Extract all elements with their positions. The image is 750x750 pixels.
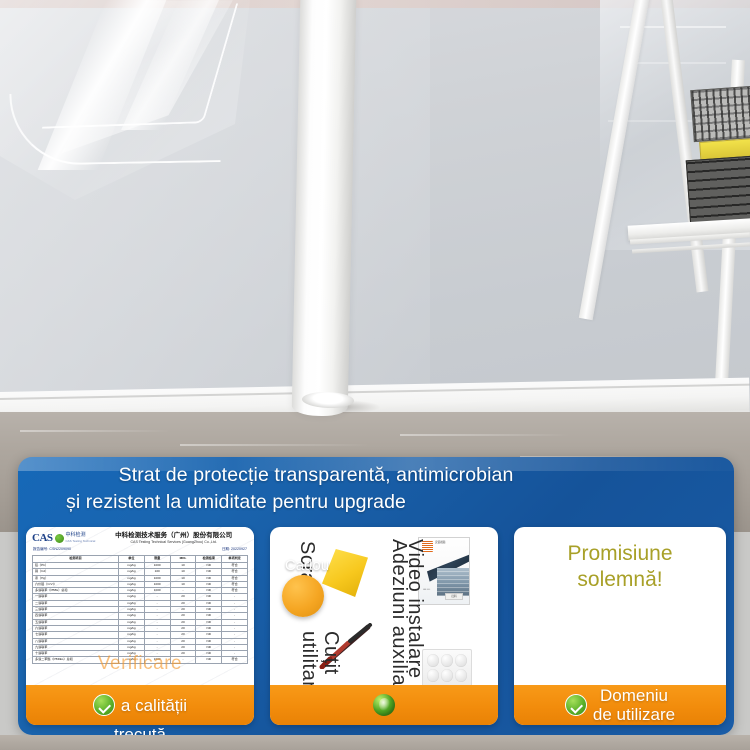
report-cell: 1000	[144, 657, 170, 663]
panel-quality-footer[interactable]: a calității	[26, 685, 254, 725]
cas-wordmark: CAS	[32, 532, 53, 544]
wire-basket-top	[690, 86, 750, 142]
headline-line-1: Strat de protecție transparentă, antimic…	[18, 462, 734, 489]
report-col-header: 检测项目	[33, 556, 119, 563]
promo-banner: Strat de protecție transparentă, antimic…	[18, 457, 734, 735]
panel-gifts-footer[interactable]	[270, 685, 498, 725]
report-table-body: 铅（Pb）mg/kg100010ND符合镉（Cd）mg/kg10010ND符合汞…	[33, 563, 248, 664]
bottom-edge	[0, 735, 750, 750]
panel-promise-footer-label: Domeniu de utilizare	[593, 686, 675, 724]
report-cell: 符合	[222, 657, 248, 663]
promise-heading: Promisiune solemnă!	[514, 541, 726, 593]
check-badge-icon	[565, 694, 587, 716]
wire-basket-bottom	[686, 156, 750, 228]
report-col-header: 检测结果	[196, 556, 222, 563]
report-company: 中科检测技术服务（广州）股份有限公司 CAS Testing Technical…	[99, 532, 248, 545]
report-cell: mg/kg	[119, 657, 145, 663]
report-cell: ND	[196, 657, 222, 663]
test-report-document: CAS 中科检测 CAS Testing Technical 中科检测技术服务（…	[26, 527, 254, 687]
report-col-header: 单项判定	[222, 556, 248, 563]
report-col-header: MDL	[170, 556, 196, 563]
cas-logo: CAS 中科检测 CAS Testing Technical	[32, 532, 95, 544]
panel-quality-footer-label: a calității	[121, 696, 187, 715]
report-number: 报告编号: CSN2209090	[33, 547, 71, 552]
panel-promise-footer[interactable]: Domeniu de utilizare	[514, 685, 726, 725]
report-row: 多溴二苯醚（PBDEs）总和mg/kg1000-ND符合	[33, 657, 248, 663]
white-film-roll	[292, 0, 357, 417]
gift-badge-label: Cadou	[262, 557, 352, 574]
adhesive-dot	[427, 654, 439, 667]
globe-badge-icon	[373, 694, 395, 716]
adhesive-dot	[427, 669, 439, 682]
report-header: CAS 中科检测 CAS Testing Technical 中科检测技术服务（…	[32, 532, 248, 545]
cas-logo-cn: 中科检测 CAS Testing Technical	[66, 532, 96, 544]
promise-line-2: solemnă!	[514, 567, 726, 593]
panel-quality-footer-overflow: trecută	[26, 725, 254, 735]
banner-headline: Strat de protecție transparentă, antimic…	[18, 462, 734, 516]
promise-line-1: Promisiune	[567, 542, 672, 565]
panel-quality-report[interactable]: CAS 中科检测 CAS Testing Technical 中科检测技术服务（…	[26, 527, 254, 725]
adhesive-dot	[455, 654, 467, 667]
promise-footer-line-1: Domeniu	[600, 686, 668, 705]
report-cell: -	[170, 657, 196, 663]
cas-swoosh-icon	[55, 534, 64, 543]
report-meta: 报告编号: CSN2209090 日期: 20220927	[33, 547, 247, 552]
company-name-cn: 中科检测技术服务（广州）股份有限公司	[99, 532, 248, 540]
adhesive-dot	[455, 669, 467, 682]
poster-building	[437, 568, 470, 596]
report-col-header: 限量	[144, 556, 170, 563]
promise-footer-line-2: de utilizare	[593, 705, 675, 724]
report-date: 日期: 20220927	[222, 547, 247, 552]
poster-caption: 安装视频	[435, 541, 445, 544]
report-col-header: 单位	[119, 556, 145, 563]
adhesive-dot	[441, 669, 453, 682]
adhesive-dot	[441, 654, 453, 667]
report-cell: 多溴二苯醚（PBDEs）总和	[33, 657, 119, 663]
report-header-row: 检测项目单位限量MDL检测结果单项判定	[33, 556, 248, 563]
report-table-head: 检测项目单位限量MDL检测结果单项判定	[33, 556, 248, 563]
gift-badge-circle	[282, 575, 324, 617]
panel-promise[interactable]: Promisiune solemnă! Domeniu de utilizare	[514, 527, 726, 725]
headline-line-2: și rezistent la umiditate pentru upgrade	[18, 489, 734, 516]
company-name-en: CAS Testing Technical Services (GuangZho…	[99, 540, 248, 545]
report-table: 检测项目单位限量MDL检测结果单项判定 铅（Pb）mg/kg100010ND符合…	[32, 555, 248, 664]
check-badge-icon	[93, 694, 115, 716]
adhesive-dots-icon	[422, 649, 472, 687]
product-marketing-image: Strat de protecție transparentă, antimic…	[0, 0, 750, 750]
feature-panels: CAS 中科检测 CAS Testing Technical 中科检测技术服务（…	[18, 527, 734, 733]
gift-label-video: Video instalare	[404, 539, 426, 678]
poster-footer-box: 扫码	[445, 593, 463, 600]
